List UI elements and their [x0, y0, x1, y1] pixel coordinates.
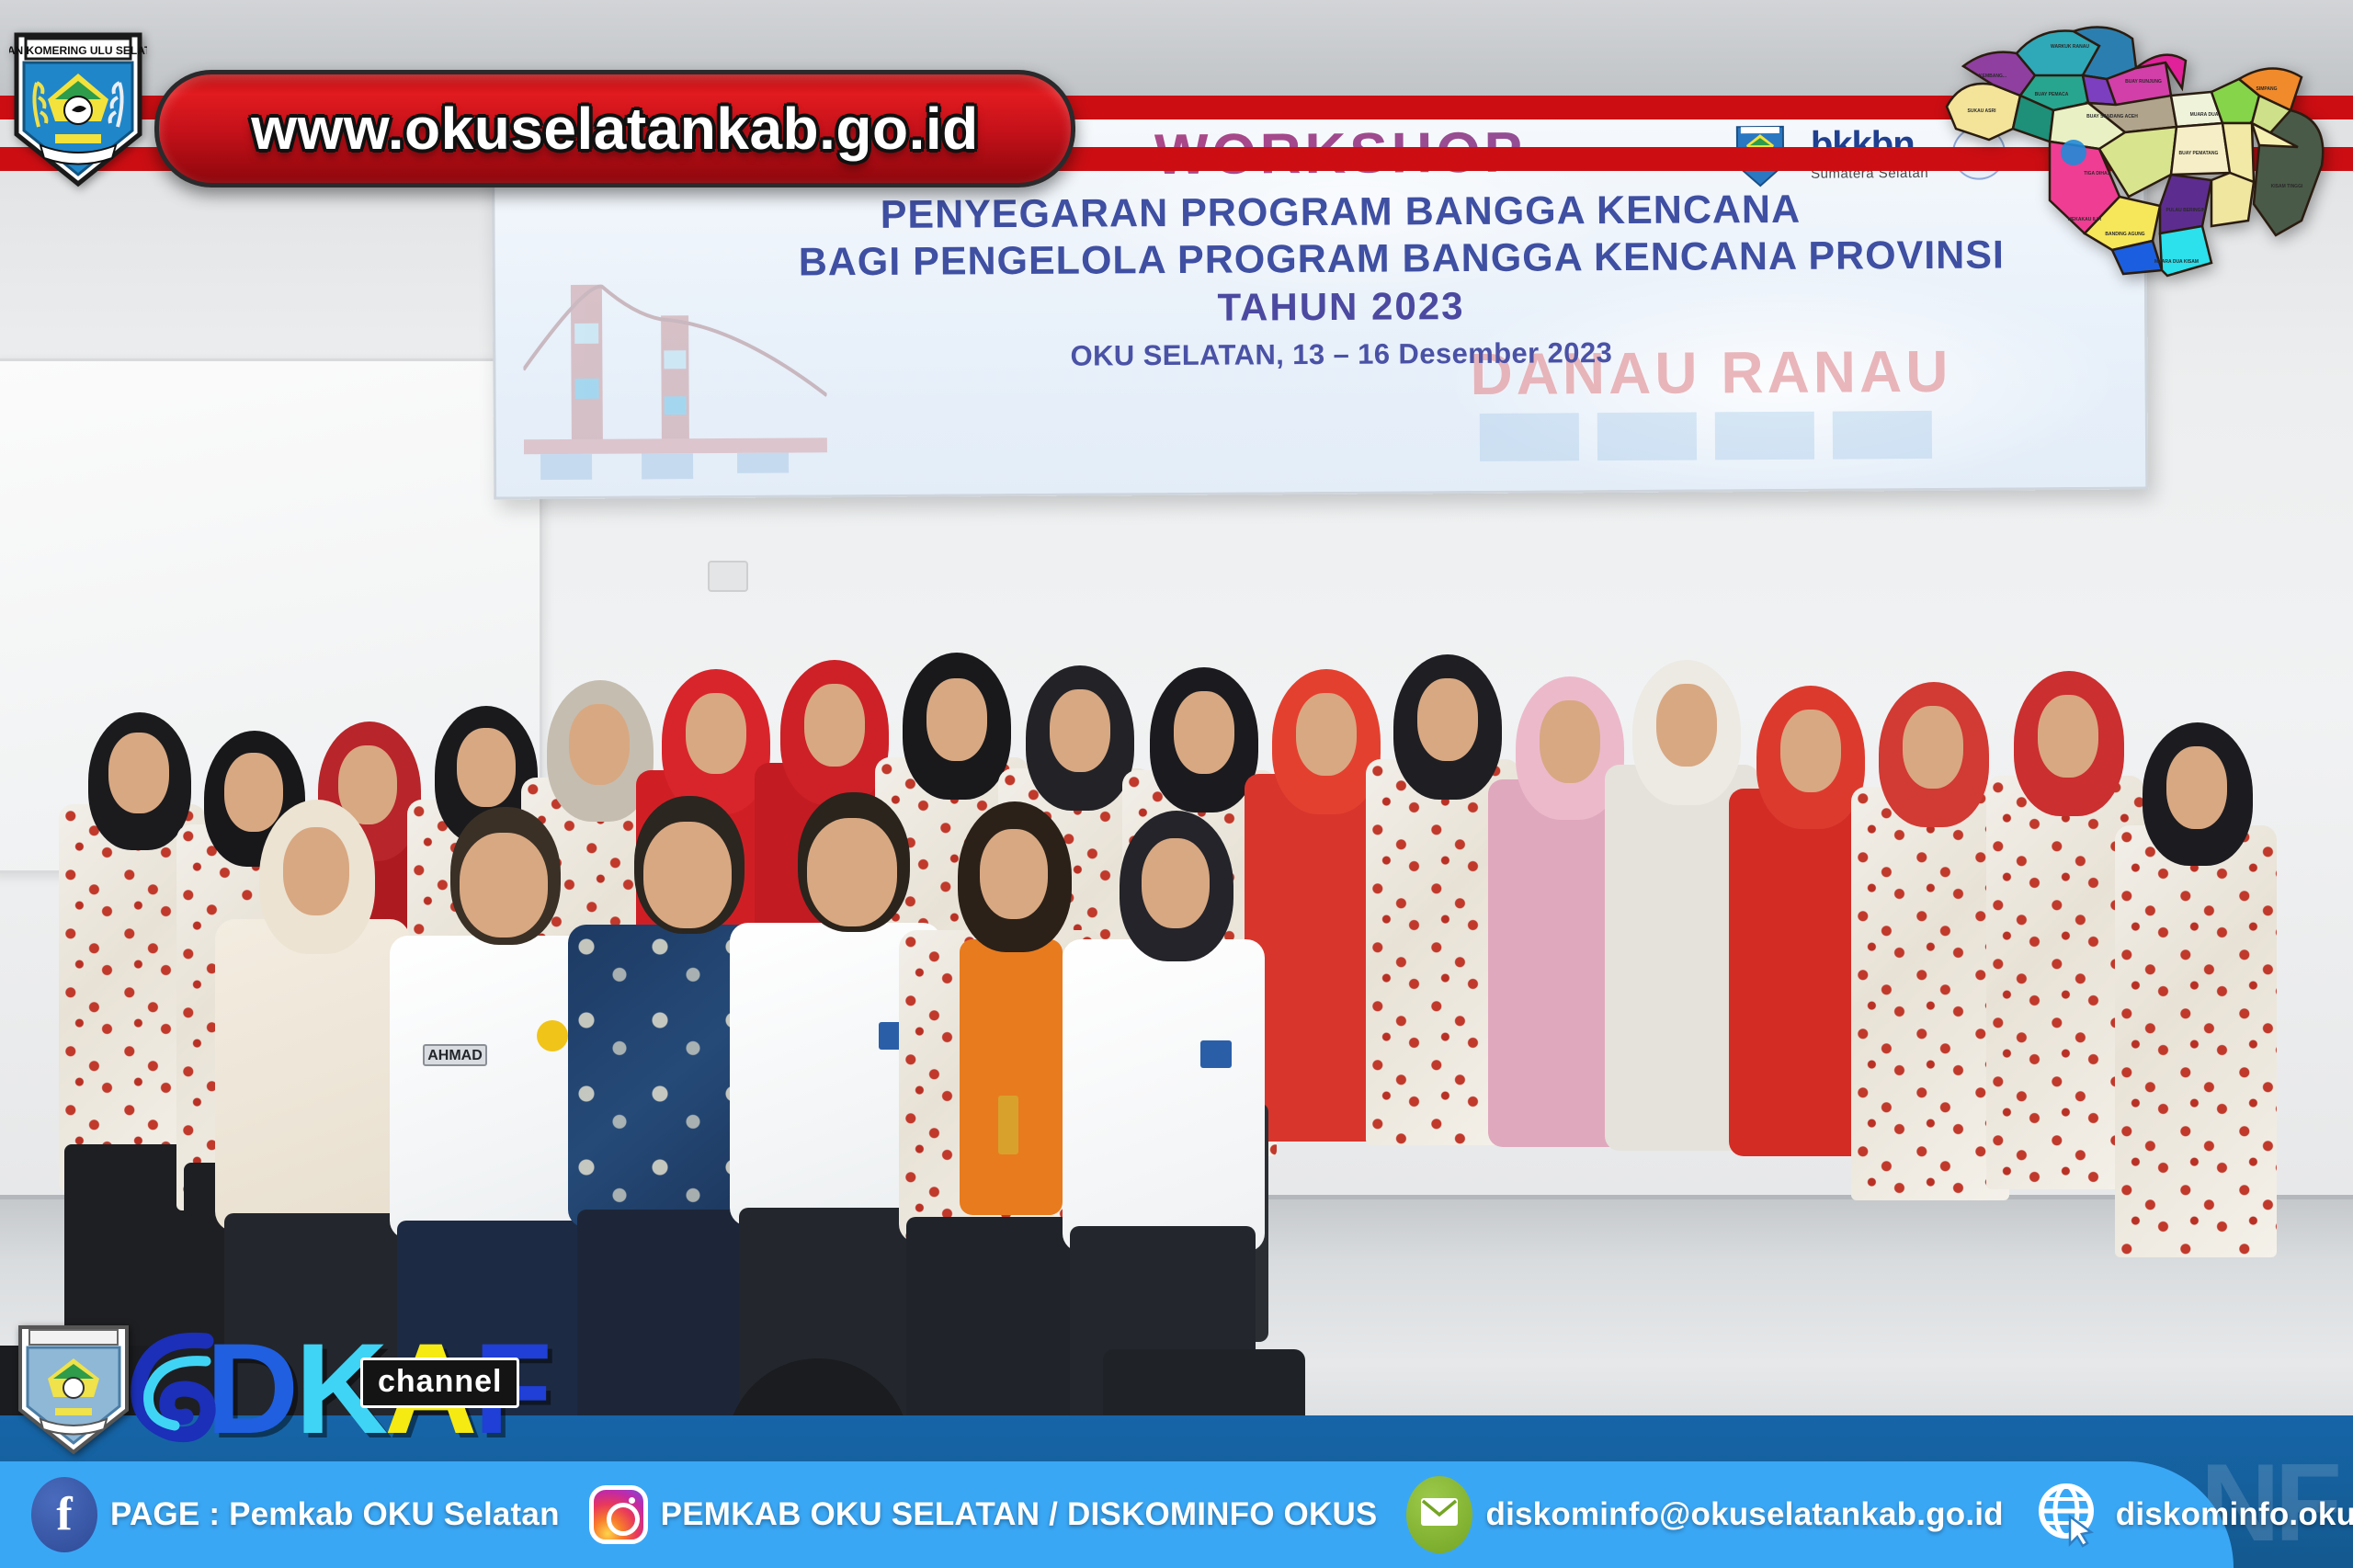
- footer-facebook-label: PAGE : Pemkab OKU Selatan: [110, 1496, 560, 1533]
- banner-year: TAHUN 2023: [799, 283, 1883, 331]
- footer-item-email[interactable]: diskominfo@okuselatankab.go.id: [1406, 1476, 2003, 1553]
- footer-contact-row: f PAGE : Pemkab OKU Selatan PEMKAB OKU S…: [31, 1461, 2353, 1568]
- dkaf-crest-icon: [13, 1320, 134, 1458]
- regency-map-icon: SUKAU ASRI KEMBANG... WARKUK RANAU BUAY …: [1936, 7, 2340, 283]
- dkaf-channel-logo: DKAF channel: [13, 1301, 601, 1476]
- dkaf-swirl-icon: [118, 1324, 228, 1453]
- svg-text:KEMBANG...: KEMBANG...: [1979, 74, 2007, 79]
- website-url-text: www.okuselatankab.go.id: [251, 95, 979, 163]
- svg-text:SUKAU ASRI: SUKAU ASRI: [1968, 108, 1997, 114]
- banner-photo-placeholders: [1480, 411, 1932, 461]
- svg-text:KISAM TINGGI: KISAM TINGGI: [2271, 184, 2303, 189]
- svg-text:MEKAKAU ILIR: MEKAKAU ILIR: [2068, 217, 2102, 222]
- footer-website-label: diskominfo.okuselatankab.go.id: [2116, 1496, 2353, 1533]
- website-url-banner[interactable]: www.okuselatankab.go.id: [154, 70, 1075, 187]
- ampera-bridge-illustration: [523, 257, 827, 480]
- footer-item-website[interactable]: diskominfo.okuselatankab.go.id: [2033, 1480, 2353, 1550]
- svg-text:WARKUK RANAU: WARKUK RANAU: [2051, 44, 2089, 50]
- inner-blouse: [960, 939, 1063, 1215]
- svg-text:BUAY RUNJUNG: BUAY RUNJUNG: [2125, 79, 2162, 85]
- screenshot-root: DANAU RANAU bkkbn Sumatera Selatan: [0, 0, 2353, 1568]
- svg-text:BUAY SANDANG ACEH: BUAY SANDANG ACEH: [2086, 114, 2138, 119]
- svg-text:MUARA DUA: MUARA DUA: [2190, 112, 2219, 118]
- svg-text:OGAN KOMERING ULU SELATAN: OGAN KOMERING ULU SELATAN: [9, 44, 147, 57]
- globe-icon: [2033, 1480, 2103, 1550]
- svg-text:BUAY PEMACA: BUAY PEMACA: [2035, 92, 2069, 97]
- footer-instagram-label: PEMKAB OKU SELATAN / DISKOMINFO OKUS: [661, 1496, 1378, 1533]
- footer-email-label: diskominfo@okuselatankab.go.id: [1485, 1496, 2003, 1533]
- footer-item-facebook[interactable]: f PAGE : Pemkab OKU Selatan: [31, 1477, 560, 1552]
- svg-text:PULAU BERINGIN: PULAU BERINGIN: [2165, 208, 2205, 213]
- name-tag: AHMAD: [423, 1044, 487, 1066]
- footer-item-instagram[interactable]: PEMKAB OKU SELATAN / DISKOMINFO OKUS: [589, 1485, 1378, 1544]
- svg-text:BANDING AGUNG: BANDING AGUNG: [2105, 232, 2144, 237]
- svg-text:MUARA DUA KISAM: MUARA DUA KISAM: [2154, 259, 2199, 265]
- instagram-icon: [589, 1485, 648, 1544]
- svg-text:BUAY PEMATANG: BUAY PEMATANG: [2179, 151, 2219, 156]
- svg-text:SIMPANG: SIMPANG: [2256, 86, 2278, 92]
- id-lanyard: [998, 1096, 1018, 1154]
- participants-group: AHMAD: [83, 551, 2289, 1397]
- facebook-icon: f: [31, 1477, 97, 1552]
- oku-selatan-crest-icon: OGAN KOMERING ULU SELATAN: [9, 26, 147, 189]
- banner-subtitle-line1: PENYEGARAN PROGRAM BANGGA KENCANA: [798, 188, 1882, 237]
- email-icon: [1406, 1476, 1472, 1553]
- banner-subtitle-line2: BAGI PENGELOLA PROGRAM BANGGA KENCANA PR…: [799, 236, 1883, 285]
- dkaf-channel-badge: channel: [360, 1358, 519, 1408]
- svg-text:TIGA DIHAJI: TIGA DIHAJI: [2084, 171, 2111, 176]
